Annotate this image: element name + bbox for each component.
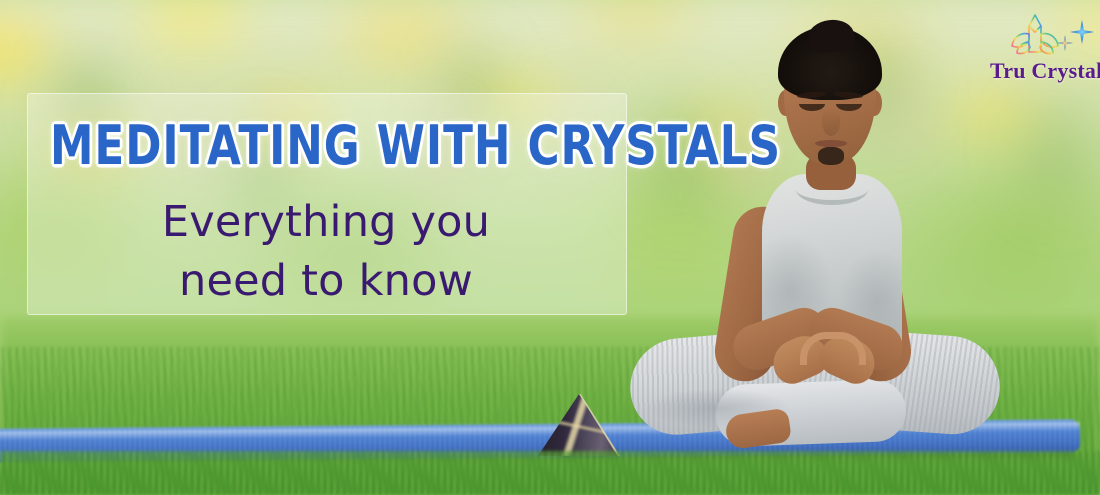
- sparkle-group: [1056, 18, 1100, 58]
- page-title: MEDITATING WITH CRYSTALS: [50, 119, 571, 174]
- hair-tuft: [806, 18, 855, 55]
- pyramid-body: [538, 394, 620, 456]
- nose: [822, 108, 840, 136]
- brand-logo[interactable]: Tru Crystals: [990, 12, 1100, 90]
- mouth: [815, 140, 847, 147]
- foreground-grass: [0, 451, 1100, 495]
- chin-beard: [818, 147, 844, 165]
- sparkle-icon: [1057, 35, 1073, 51]
- hero-banner: MEDITATING WITH CRYSTALS Everything you …: [0, 0, 1100, 495]
- subtitle-line-2: need to know: [27, 252, 625, 311]
- lotus-crystal-icon: [1008, 12, 1062, 62]
- meditating-man: [612, 16, 1012, 456]
- crystal-pyramid: [538, 394, 620, 456]
- sparkle-icon: [1070, 20, 1094, 44]
- page-subtitle: Everything you need to know: [27, 193, 625, 312]
- brand-name: Tru Crystals: [990, 58, 1100, 84]
- mudra-hand-gesture: [800, 332, 866, 365]
- subtitle-line-1: Everything you: [27, 193, 625, 252]
